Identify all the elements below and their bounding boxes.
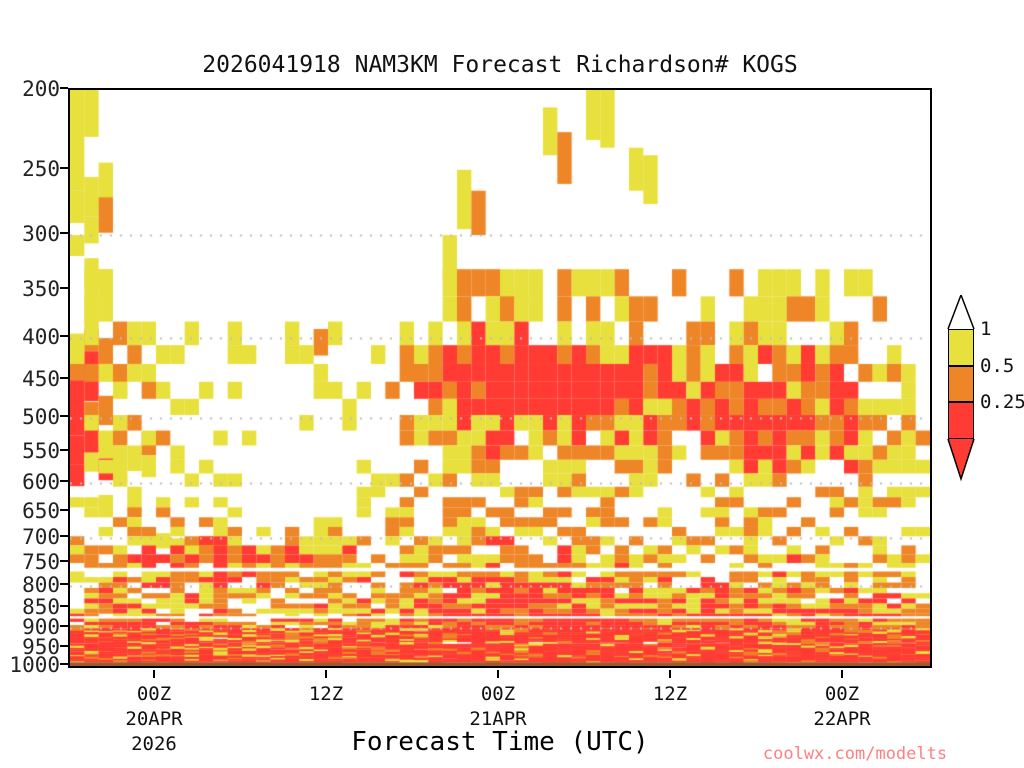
y-tick-mark — [60, 645, 68, 647]
x-tick-mark — [841, 670, 843, 678]
y-axis: 2002503003504004505005506006507007508008… — [0, 88, 60, 668]
x-tick-label: 00Z21APR — [469, 682, 526, 732]
y-tick-mark — [60, 287, 68, 289]
x-tick-label: 00Z22APR — [813, 682, 870, 732]
y-tick-mark — [60, 335, 68, 337]
y-tick-label: 450 — [0, 367, 60, 391]
y-tick-mark — [60, 377, 68, 379]
y-tick-label: 750 — [0, 550, 60, 574]
x-tick-mark — [153, 670, 155, 678]
x-tick-label-line: 00Z — [125, 682, 182, 707]
y-tick-mark — [60, 415, 68, 417]
y-tick-mark — [60, 535, 68, 537]
colorbar-bands — [948, 329, 974, 439]
x-tick-mark — [325, 670, 327, 678]
x-tick-label-line: 00Z — [469, 682, 526, 707]
y-tick-mark — [60, 663, 68, 665]
colorbar: 10.50.25 — [940, 295, 1020, 475]
colorbar-tick-label: 0.25 — [980, 391, 1024, 413]
y-tick-label: 200 — [0, 77, 60, 101]
y-tick-label: 250 — [0, 157, 60, 181]
y-tick-label: 350 — [0, 277, 60, 301]
y-tick-label: 500 — [0, 405, 60, 429]
x-tick-mark — [669, 670, 671, 678]
y-tick-mark — [60, 449, 68, 451]
richardson-heatmap-canvas — [70, 90, 930, 666]
colorbar-band-under-0.25 — [948, 402, 974, 439]
y-tick-label: 300 — [0, 222, 60, 246]
x-tick-label-line: 00Z — [813, 682, 870, 707]
y-tick-mark — [60, 560, 68, 562]
y-tick-label: 600 — [0, 470, 60, 494]
colorbar-tick-label: 0.5 — [980, 355, 1014, 377]
y-tick-label: 1000 — [0, 653, 60, 677]
colorbar-band-0.25-0.5 — [948, 366, 974, 403]
chart-title: 2026041918 NAM3KM Forecast Richardson# K… — [0, 52, 1000, 78]
heatmap-plot-area — [68, 88, 932, 668]
x-tick-label-line: 12Z — [653, 682, 687, 707]
credit-watermark: coolwx.com/modelts — [700, 744, 1010, 764]
y-tick-mark — [60, 480, 68, 482]
y-tick-label: 400 — [0, 325, 60, 349]
colorbar-band-0.5-1 — [948, 329, 974, 366]
y-tick-mark — [60, 509, 68, 511]
colorbar-tick-label: 1 — [980, 318, 991, 340]
y-tick-mark — [60, 232, 68, 234]
y-tick-label: 700 — [0, 525, 60, 549]
y-tick-mark — [60, 87, 68, 89]
y-tick-mark — [60, 583, 68, 585]
x-tick-label: 12Z — [309, 682, 343, 707]
y-tick-mark — [60, 605, 68, 607]
y-tick-label: 650 — [0, 499, 60, 523]
y-tick-mark — [60, 625, 68, 627]
y-tick-mark — [60, 167, 68, 169]
y-tick-label: 550 — [0, 439, 60, 463]
x-tick-label: 12Z — [653, 682, 687, 707]
x-tick-label-line: 12Z — [309, 682, 343, 707]
chart-page: 2026041918 NAM3KM Forecast Richardson# K… — [0, 0, 1024, 768]
y-tick-label: 800 — [0, 573, 60, 597]
x-tick-mark — [497, 670, 499, 678]
